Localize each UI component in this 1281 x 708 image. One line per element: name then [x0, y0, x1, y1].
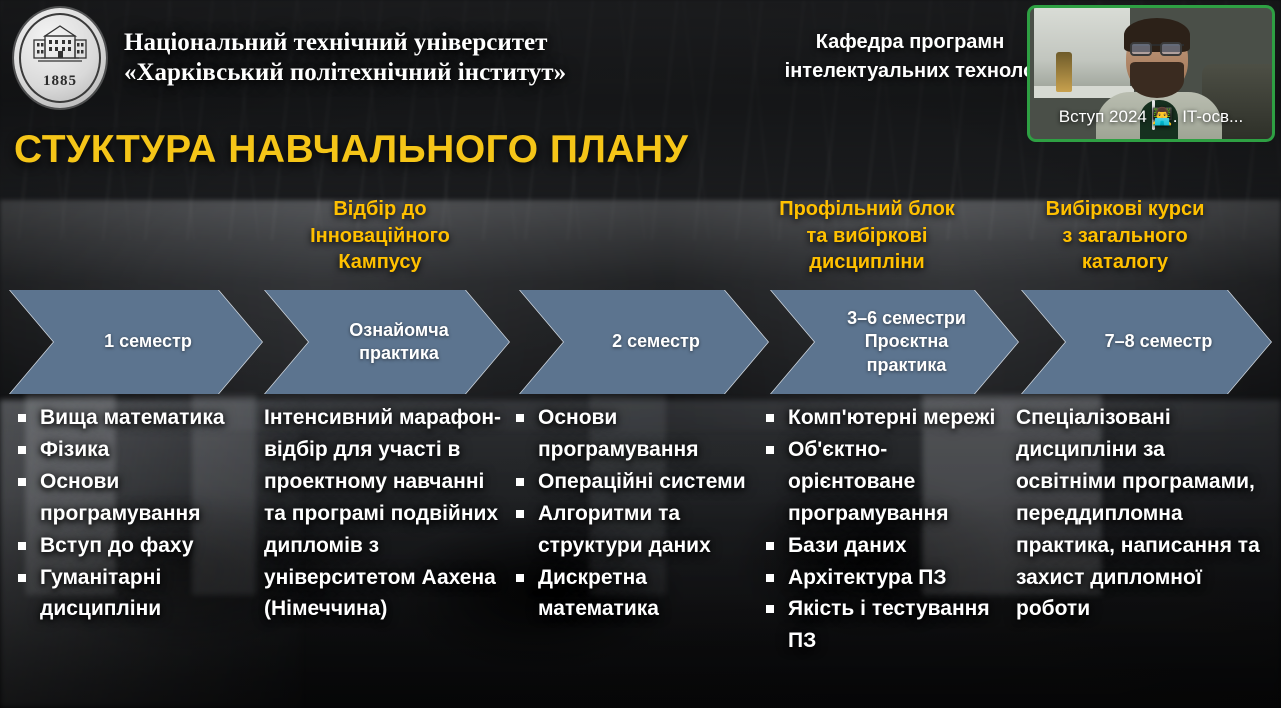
chevron-step-2[interactable]: Ознайомча практика [265, 290, 509, 394]
column-internship: Інтенсивний марафон-відбір для участі в … [264, 402, 508, 625]
column-semesters-3-6: Комп'ютерні мережі Об'єктно-орієнтоване … [762, 402, 1006, 657]
process-chevron-band: 1 семестр Ознайомча практика 2 семестр 3… [0, 290, 1281, 394]
logo-ring [19, 13, 101, 103]
chevron-step-3[interactable]: 2 семестр [520, 290, 768, 394]
webcam-bottle [1056, 52, 1072, 92]
university-name-line1: Національний технічний університет [124, 28, 566, 59]
university-name: Національний технічний університет «Харк… [124, 28, 566, 89]
list-item: Об'єктно-орієнтоване програмування [762, 434, 1006, 530]
list-item: Якість і тестування ПЗ [762, 593, 1006, 657]
webcam-person-beard [1130, 62, 1184, 98]
column-semester-2: Основи програмування Операційні системи … [512, 402, 750, 625]
department-name: Кафедра програмн інтелектуальних техноло [760, 28, 1060, 86]
chevron-label-5: 7–8 семестр [1071, 330, 1223, 353]
webcam-glasses-lens-right [1160, 42, 1182, 56]
column-semester-1: Вища математика Фізика Основи програмува… [14, 402, 258, 625]
chevron-step-5[interactable]: 7–8 семестр [1022, 290, 1271, 394]
list-item: Фізика [14, 434, 258, 466]
chevron-label-1: 1 семестр [70, 330, 202, 353]
chevron-label-4: 3–6 семестри Проєктна практика [813, 307, 976, 377]
slide-header: 1885 Національний технічний університет … [14, 8, 566, 108]
webcam-window [1034, 8, 1130, 94]
webcam-participant-name: Вступ 2024 👨‍💻. IT-осв... [1030, 107, 1272, 127]
column-semesters-7-8: Спеціалізовані дисципліни за освітніми п… [1016, 402, 1268, 625]
course-list-4: Комп'ютерні мережі Об'єктно-орієнтоване … [762, 402, 1006, 657]
list-item: Комп'ютерні мережі [762, 402, 1006, 434]
phase-caption-2: Профільний блок та вибіркові дисципліни [760, 196, 974, 276]
webcam-glasses-lens-left [1130, 42, 1152, 56]
university-logo: 1885 [14, 8, 106, 108]
list-item: Архітектура ПЗ [762, 562, 1006, 594]
list-item: Бази даних [762, 530, 1006, 562]
phase-caption-3: Вибіркові курси з загального каталогу [1020, 196, 1230, 276]
page-title: СТУКТУРА НАВЧАЛЬНОГО ПЛАНУ [14, 128, 688, 172]
course-list-1: Вища математика Фізика Основи програмува… [14, 402, 258, 625]
list-item: Дискретна математика [512, 562, 750, 626]
webcam-overlay[interactable]: Вступ 2024 👨‍💻. IT-осв... [1027, 5, 1275, 142]
department-name-line1: Кафедра програмн [760, 28, 1060, 57]
list-item: Вища математика [14, 402, 258, 434]
chevron-step-1[interactable]: 1 семестр [10, 290, 262, 394]
course-list-3: Основи програмування Операційні системи … [512, 402, 750, 625]
list-item: Вступ до фаху [14, 530, 258, 562]
list-item: Основи програмування [14, 466, 258, 530]
department-name-line2: інтелектуальних техноло [760, 57, 1060, 86]
presentation-slide: 1885 Національний технічний університет … [0, 0, 1281, 708]
list-item: Гуманітарні дисципліни [14, 562, 258, 626]
chevron-label-2: Ознайомча практика [315, 319, 458, 366]
chevron-label-3: 2 семестр [578, 330, 710, 353]
column-internship-text: Інтенсивний марафон-відбір для участі в … [264, 402, 508, 625]
chevron-step-4[interactable]: 3–6 семестри Проєктна практика [771, 290, 1018, 394]
list-item: Основи програмування [512, 402, 750, 466]
university-name-line2: «Харківський політехнічний інститут» [124, 58, 566, 89]
phase-caption-1: Відбір до Інноваційного Кампусу [290, 196, 470, 276]
curriculum-columns: Вища математика Фізика Основи програмува… [0, 402, 1281, 708]
list-item: Операційні системи [512, 466, 750, 498]
list-item: Алгоритми та структури даних [512, 498, 750, 562]
column-diploma-text: Спеціалізовані дисципліни за освітніми п… [1016, 402, 1268, 625]
